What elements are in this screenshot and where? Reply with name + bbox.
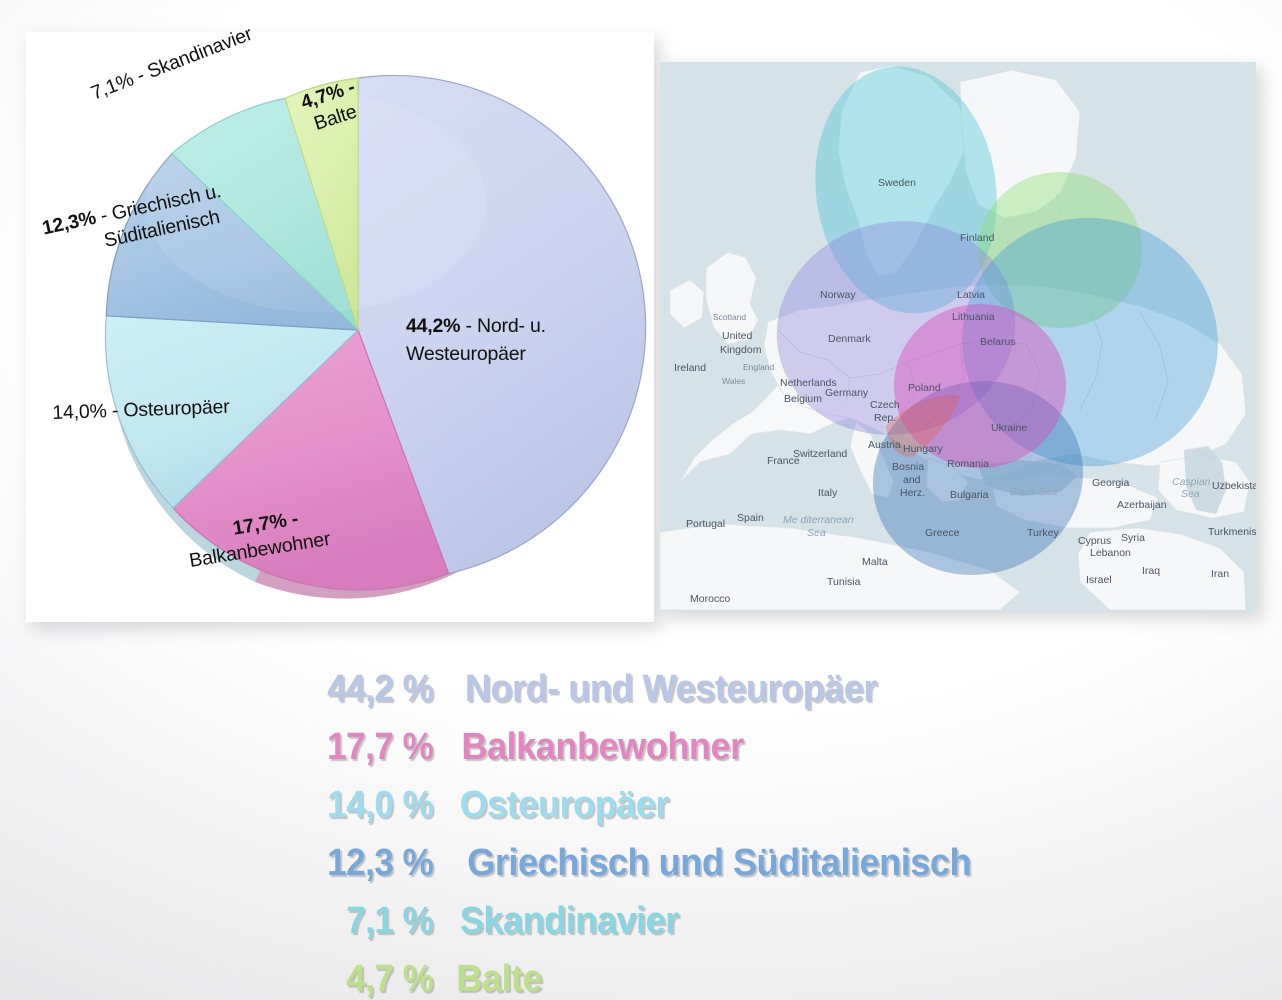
legend-label: Nord- und Westeuropäer bbox=[465, 668, 877, 711]
legend-label: Balte bbox=[456, 958, 542, 1000]
europe-map-graphic bbox=[660, 62, 1256, 611]
slide-canvas: 7,1% - Skandinavier 4,7% - Balte 12,3% -… bbox=[0, 0, 1282, 1000]
legend-row-skandinavier: 7,1 % Skandinavier bbox=[0, 900, 1282, 958]
legend-row-balte: 4,7 % Balte bbox=[0, 958, 1282, 1000]
legend-row-griechisch-sueditalienisch: 12,3 % Griechisch und Süditalienisch bbox=[0, 842, 1282, 900]
legend-percent: 44,2 % bbox=[323, 668, 433, 711]
legend-label: Skandinavier bbox=[460, 900, 679, 943]
legend-label: Griechisch und Süditalienisch bbox=[467, 842, 971, 885]
legend-percent: 12,3 % bbox=[323, 842, 433, 885]
legend-list: 44,2 % Nord- und Westeuropäer 17,7 % Bal… bbox=[0, 668, 1282, 1000]
legend-row-nord-westeuropaeer: 44,2 % Nord- und Westeuropäer bbox=[0, 668, 1282, 726]
legend-percent: 14,0 % bbox=[323, 784, 433, 827]
legend-percent: 17,7 % bbox=[323, 726, 433, 769]
legend-row-balkanbewohner: 17,7 % Balkanbewohner bbox=[0, 726, 1282, 784]
pie-chart-card: 7,1% - Skandinavier 4,7% - Balte 12,3% -… bbox=[26, 32, 654, 622]
legend-label: Osteuropäer bbox=[460, 784, 669, 827]
legend-percent: 7,1 % bbox=[323, 900, 433, 943]
pie-label-nord-westeuropaeer: 44,2% - Nord- u. Westeuropäer bbox=[406, 312, 546, 369]
legend-label: Balkanbewohner bbox=[461, 726, 743, 769]
legend-percent: 4,7 % bbox=[323, 958, 433, 1000]
legend-row-osteuropaeer: 14,0 % Osteuropäer bbox=[0, 784, 1282, 842]
europe-map-card: Sweden Finland Norway Denmark Scotland U… bbox=[660, 62, 1256, 611]
